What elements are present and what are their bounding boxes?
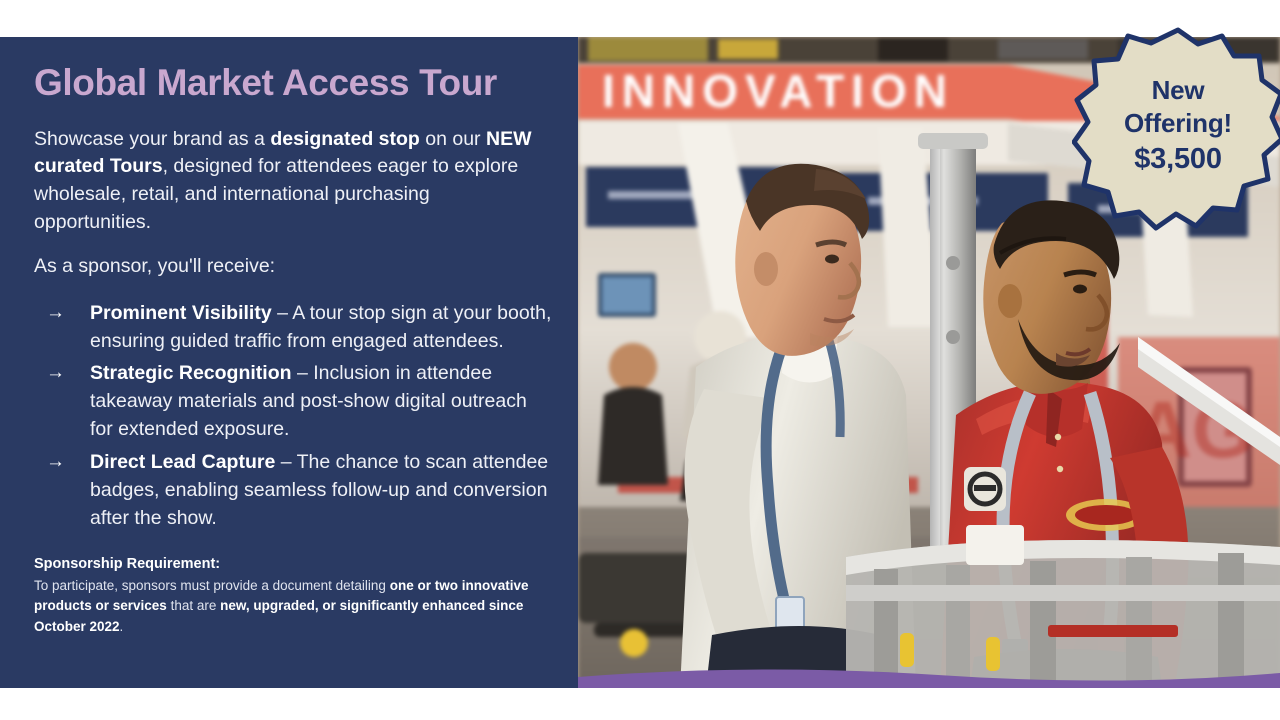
list-item: → Direct Lead Capture – The chance to sc… (34, 448, 554, 532)
arrow-right-icon: → (34, 448, 90, 475)
requirement-part-3: . (120, 619, 124, 634)
benefit-label: Prominent Visibility (90, 302, 272, 324)
benefit-text: Direct Lead Capture – The chance to scan… (90, 448, 554, 532)
sleeve-logo (964, 467, 1006, 511)
new-offering-badge: New Offering! $3,500 (1072, 22, 1280, 244)
requirement-part-1: To participate, sponsors must provide a … (34, 578, 390, 593)
benefit-text: Strategic Recognition – Inclusion in att… (90, 359, 554, 443)
benefit-text: Prominent Visibility – A tour stop sign … (90, 299, 554, 355)
starburst-shape (1072, 22, 1280, 244)
slide: Global Market Access Tour Showcase your … (0, 0, 1280, 720)
requirement-part-2: that are (167, 598, 220, 613)
benefit-label: Direct Lead Capture (90, 451, 275, 473)
paragraph-spacer (34, 236, 562, 253)
benefit-label: Strategic Recognition (90, 362, 292, 384)
intro-lead-1: Showcase your brand as a (34, 128, 270, 150)
page-title: Global Market Access Tour (34, 63, 562, 104)
arrow-right-icon: → (34, 299, 90, 326)
requirement-body: To participate, sponsors must provide a … (34, 576, 539, 638)
sponsor-intro-line: As a sponsor, you'll receive: (34, 253, 562, 281)
svg-text:INNOVATION: INNOVATION (602, 65, 954, 117)
intro-paragraph: Showcase your brand as a designated stop… (34, 126, 539, 237)
list-item: → Strategic Recognition – Inclusion in a… (34, 359, 554, 443)
content-panel: Global Market Access Tour Showcase your … (0, 37, 578, 688)
requirement-heading: Sponsorship Requirement: (34, 554, 539, 576)
arrow-right-icon: → (34, 359, 90, 386)
intro-lead-2: on our (420, 128, 486, 150)
benefits-list: → Prominent Visibility – A tour stop sig… (34, 299, 554, 532)
list-item: → Prominent Visibility – A tour stop sig… (34, 299, 554, 355)
sponsorship-requirement: Sponsorship Requirement: To participate,… (34, 554, 539, 637)
intro-bold-designated-stop: designated stop (270, 128, 420, 150)
